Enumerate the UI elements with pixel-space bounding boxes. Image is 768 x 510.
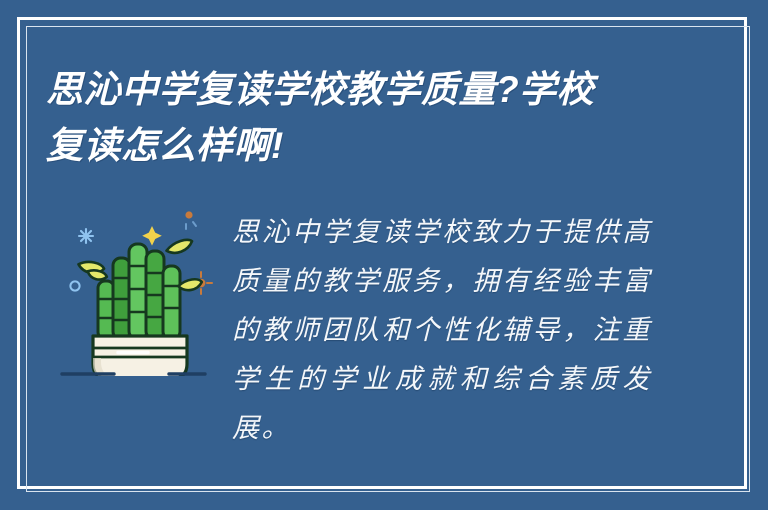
star-sparkle-icon xyxy=(142,226,162,246)
title-line-1: 思沁中学复读学校教学质量?学校 xyxy=(46,62,656,118)
page-title: 思沁中学复读学校教学质量?学校 复读怎么样啊! xyxy=(46,62,656,174)
body-paragraph: 思沁中学复读学校致力于提供高质量的教学服务，拥有经验丰富的教师团队和个性化辅导，… xyxy=(232,208,652,453)
orange-dot-sparkle-icon xyxy=(185,211,196,229)
plant-pot xyxy=(93,336,187,376)
ring-sparkle-icon xyxy=(70,281,79,290)
snowflake-sparkle-icon xyxy=(79,229,93,243)
content-area: 思沁中学复读学校致力于提供高质量的教学服务，拥有经验丰富的教师团队和个性化辅导，… xyxy=(46,196,706,456)
potted-bamboo-plant-icon xyxy=(56,196,236,376)
poster-canvas: 思沁中学复读学校教学质量?学校 复读怎么样啊! xyxy=(0,0,768,510)
title-line-2: 复读怎么样啊! xyxy=(46,118,656,174)
bamboo-stalks xyxy=(98,244,180,339)
